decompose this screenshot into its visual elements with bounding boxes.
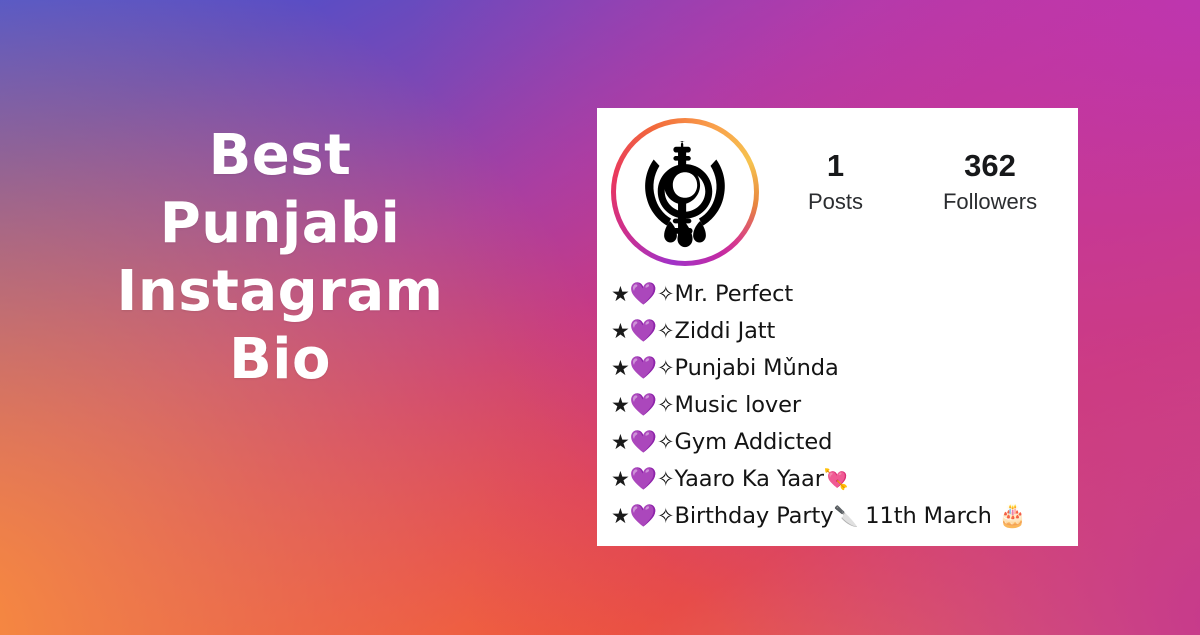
headline-line-2: Punjabi [0,190,560,258]
bio-line-text: Birthday Party [675,503,834,529]
followers-label: Followers [910,187,1070,217]
followers-count: 362 [910,148,1070,184]
purple-heart-icon: 💜 [630,393,657,418]
purple-heart-icon: 💜 [630,504,657,529]
bio-line-tail: 11th March 🎂 [858,503,1026,529]
purple-heart-icon: 💜 [630,430,657,455]
sparkle-diamond-icon: ✧ [657,430,675,454]
instagram-profile-card: 1 Posts 362 Followers ★💜✧Mr. Perfect ★💜✧… [597,108,1078,546]
star-icon: ★ [611,356,630,380]
heart-with-arrow-icon: 💘 [824,467,849,491]
bio-line: ★💜✧Yaaro Ka Yaar💘 [611,461,1070,498]
khanda-sikh-symbol-icon [627,134,743,250]
sparkle-diamond-icon: ✧ [657,504,675,528]
bio-line: ★💜✧Gym Addicted [611,424,1070,461]
purple-heart-icon: 💜 [630,319,657,344]
purple-heart-icon: 💜 [630,356,657,381]
posts-count: 1 [785,148,886,184]
avatar[interactable] [616,123,754,261]
sparkle-diamond-icon: ✧ [657,356,675,380]
profile-bio: ★💜✧Mr. Perfect ★💜✧Ziddi Jatt ★💜✧Punjabi … [611,276,1070,535]
knife-icon: 🔪 [833,504,858,528]
promo-banner: Best Punjabi Instagram Bio [0,0,1200,635]
stat-followers[interactable]: 362 Followers [910,148,1070,217]
headline-line-3: Instagram [0,258,560,326]
sparkle-diamond-icon: ✧ [657,319,675,343]
star-icon: ★ [611,467,630,491]
bio-line-text: Mr. Perfect [675,281,794,307]
bio-line-text: Yaaro Ka Yaar [675,466,824,492]
star-icon: ★ [611,504,630,528]
bio-line-text: Music lover [675,392,802,418]
stat-posts[interactable]: 1 Posts [785,148,886,217]
bio-line-text: Gym Addicted [675,429,833,455]
bio-line: ★💜✧Music lover [611,387,1070,424]
page-title: Best Punjabi Instagram Bio [0,122,560,394]
bio-line: ★💜✧Mr. Perfect [611,276,1070,313]
headline-line-4: Bio [0,326,560,394]
profile-stats: 1 Posts 362 Followers [785,148,1070,217]
star-icon: ★ [611,282,630,306]
purple-heart-icon: 💜 [630,282,657,307]
bio-line: ★💜✧Punjabi Mǔnda [611,350,1070,387]
posts-label: Posts [785,187,886,217]
profile-header: 1 Posts 362 Followers [597,108,1078,270]
headline-line-1: Best [0,122,560,190]
bio-line-text: Ziddi Jatt [675,318,776,344]
bio-line: ★💜✧Ziddi Jatt [611,313,1070,350]
star-icon: ★ [611,319,630,343]
sparkle-diamond-icon: ✧ [657,467,675,491]
sparkle-diamond-icon: ✧ [657,393,675,417]
bio-line: ★💜✧Birthday Party🔪 11th March 🎂 [611,498,1070,535]
purple-heart-icon: 💜 [630,467,657,492]
star-icon: ★ [611,430,630,454]
sparkle-diamond-icon: ✧ [657,282,675,306]
star-icon: ★ [611,393,630,417]
bio-line-text: Punjabi Mǔnda [675,355,839,381]
avatar-story-ring[interactable] [611,118,759,266]
